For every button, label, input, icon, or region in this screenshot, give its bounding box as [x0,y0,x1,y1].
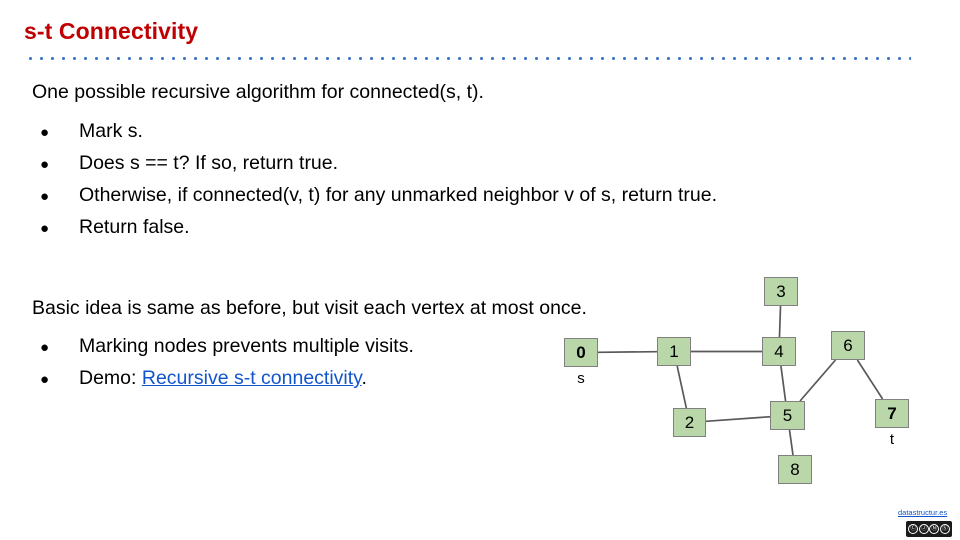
notes-bullet-list: ● Marking nodes prevents multiple visits… [40,335,600,399]
demo-prefix-label: Demo: [79,367,142,389]
list-item: ● Does s == t? If so, return true. [40,152,920,184]
endpoint-label-s: s [564,370,598,387]
cc-nc-icon: Ⓝ [929,524,939,534]
algorithm-bullet-list: ● Mark s. ● Does s == t? If so, return t… [40,120,920,248]
list-item-label: Otherwise, if connected(v, t) for any un… [79,184,920,207]
graph-edge-0-1 [598,352,657,353]
bullet-dot-icon: ● [40,125,79,140]
bullet-dot-icon: ● [40,372,79,387]
cc-by-icon: Ⓙ [919,524,929,534]
graph-edge-4-5 [781,366,786,401]
section-one-lead: One possible recursive algorithm for con… [32,81,484,104]
endpoint-label-t: t [875,431,909,448]
page-title: s-t Connectivity [24,18,198,45]
list-item: ● Otherwise, if connected(v, t) for any … [40,184,920,216]
graph-edge-3-4 [779,306,780,337]
graph-node-3: 3 [764,277,798,306]
graph-edge-5-6 [800,360,835,401]
cc-sa-icon: Ⓢ [940,524,950,534]
cc-icon: Ⓒ [908,524,918,534]
section-two-lead: Basic idea is same as before, but visit … [32,297,587,320]
title-divider [25,57,911,60]
list-item-label: Does s == t? If so, return true. [79,152,920,175]
bullet-dot-icon: ● [40,189,79,204]
list-item: ● Mark s. [40,120,920,152]
bullet-dot-icon: ● [40,221,79,236]
graph-node-0: 0 [564,338,598,367]
list-item-label: Mark s. [79,120,920,143]
bullet-dot-icon: ● [40,340,79,355]
list-item-label: Marking nodes prevents multiple visits. [79,335,600,358]
graph-node-8: 8 [778,455,812,484]
graph-node-4: 4 [762,337,796,366]
graph-edge-2-5 [706,417,770,422]
list-item-label: Return false. [79,216,920,239]
demo-suffix-label: . [361,367,366,389]
creative-commons-license-badge[interactable]: Ⓒ Ⓙ Ⓝ Ⓢ [906,521,952,537]
demo-line: Demo: Recursive s-t connectivity. [79,367,600,390]
graph-node-1: 1 [657,337,691,366]
graph-edge-6-7 [857,360,882,399]
datastructures-site-link[interactable]: datastructur.es [898,508,947,517]
list-item: ● Return false. [40,216,920,248]
graph-node-7: 7 [875,399,909,428]
list-item: ● Marking nodes prevents multiple visits… [40,335,600,367]
graph-node-6: 6 [831,331,865,360]
graph-node-2: 2 [673,408,706,437]
graph-edge-1-2 [677,366,686,408]
bullet-dot-icon: ● [40,157,79,172]
graph-node-5: 5 [770,401,805,430]
recursive-st-connectivity-link[interactable]: Recursive s-t connectivity [142,367,362,389]
graph-edge-5-8 [790,430,793,455]
list-item-demo: ● Demo: Recursive s-t connectivity. [40,367,600,399]
